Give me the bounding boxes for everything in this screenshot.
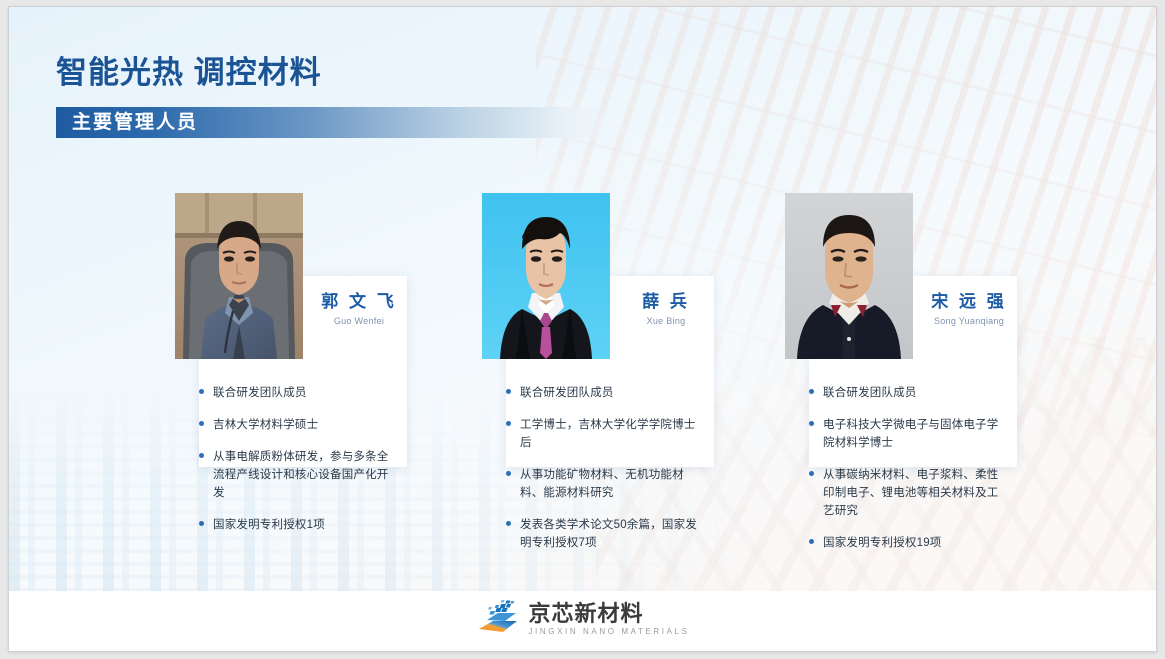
list-item: 国家发明专利授权19项 xyxy=(809,533,1005,551)
avatar xyxy=(482,193,610,359)
list-item-text: 从事电解质粉体研发，参与多条全流程产线设计和核心设备国产化开发 xyxy=(213,451,389,499)
person-bullet-list: 联合研发团队成员 工学博士，吉林大学化学学院博士后 从事功能矿物材料、无机功能材… xyxy=(506,383,702,551)
person-name-en: Guo Wenfei xyxy=(311,314,407,328)
slide-header: 智能光热 调控材料 xyxy=(56,53,322,93)
person-card-3: 宋 远 强 Song Yuanqiang 联合研发团队成员 电子科技大学微电子与… xyxy=(785,193,1017,551)
person-bullet-list: 联合研发团队成员 电子科技大学微电子与固体电子学院材料学博士 从事碳纳米材料、电… xyxy=(809,383,1005,551)
list-item-text: 联合研发团队成员 xyxy=(213,387,307,399)
bullet-dot-icon xyxy=(809,421,814,426)
person-card-2: 薛 兵 Xue Bing 联合研发团队成员 工学博士，吉林大学化学学院博士后 从… xyxy=(482,193,714,551)
list-item-text: 吉林大学材料学硕士 xyxy=(213,419,318,431)
avatar xyxy=(175,193,303,359)
person-name-cn: 郭 文 飞 xyxy=(311,291,407,313)
list-item-text: 联合研发团队成员 xyxy=(823,387,917,399)
list-item-text: 联合研发团队成员 xyxy=(520,387,614,399)
person-bullet-list: 联合研发团队成员 吉林大学材料学硕士 从事电解质粉体研发，参与多条全流程产线设计… xyxy=(199,383,395,533)
list-item-text: 从事功能矿物材料、无机功能材料、能源材料研究 xyxy=(520,469,684,499)
list-item-text: 从事碳纳米材料、电子浆料、柔性印制电子、锂电池等相关材料及工艺研究 xyxy=(823,469,999,517)
bullet-dot-icon xyxy=(199,389,204,394)
person-card-1: 郭 文 飞 Guo Wenfei 联合研发团队成员 吉林大学材料学硕士 从事电解… xyxy=(175,193,407,551)
list-item: 从事电解质粉体研发，参与多条全流程产线设计和核心设备国产化开发 xyxy=(199,447,395,501)
slide-canvas: 智能光热 调控材料 主要管理人员 xyxy=(8,6,1157,652)
bullet-dot-icon xyxy=(199,453,204,458)
bullet-dot-icon xyxy=(506,471,511,476)
person-name-cn: 薛 兵 xyxy=(618,291,714,313)
list-item-text: 国家发明专利授权1项 xyxy=(213,519,325,531)
avatar xyxy=(785,193,913,359)
list-item-text: 电子科技大学微电子与固体电子学院材料学博士 xyxy=(823,419,999,449)
list-item: 联合研发团队成员 xyxy=(809,383,1005,401)
bullet-dot-icon xyxy=(506,521,511,526)
bullet-dot-icon xyxy=(809,389,814,394)
bullet-dot-icon xyxy=(199,421,204,426)
logo-name-cn: 京芯新材料 xyxy=(528,601,689,626)
list-item-text: 国家发明专利授权19项 xyxy=(823,537,942,549)
list-item-text: 发表各类学术论文50余篇，国家发明专利授权7项 xyxy=(520,519,697,549)
list-item: 电子科技大学微电子与固体电子学院材料学博士 xyxy=(809,415,1005,451)
section-title-label: 主要管理人员 xyxy=(72,111,198,135)
page-title: 智能光热 调控材料 xyxy=(56,53,322,93)
list-item: 发表各类学术论文50余篇，国家发明专利授权7项 xyxy=(506,515,702,551)
section-title-bar: 主要管理人员 xyxy=(56,107,612,138)
logo-wordmark: 京芯新材料 JINGXIN NANO MATERIALS xyxy=(528,601,689,637)
bullet-dot-icon xyxy=(809,471,814,476)
list-item: 从事功能矿物材料、无机功能材料、能源材料研究 xyxy=(506,465,702,501)
list-item-text: 工学博士，吉林大学化学学院博士后 xyxy=(520,419,696,449)
list-item: 从事碳纳米材料、电子浆料、柔性印制电子、锂电池等相关材料及工艺研究 xyxy=(809,465,1005,519)
list-item: 工学博士，吉林大学化学学院博士后 xyxy=(506,415,702,451)
person-name-cn: 宋 远 强 xyxy=(921,291,1017,313)
portrait-guo-wenfei-icon xyxy=(175,193,303,359)
person-name-block: 薛 兵 Xue Bing xyxy=(618,291,714,328)
list-item: 联合研发团队成员 xyxy=(199,383,395,401)
person-name-block: 宋 远 强 Song Yuanqiang xyxy=(921,291,1017,328)
person-name-en: Xue Bing xyxy=(618,314,714,328)
portrait-xue-bing-icon xyxy=(482,193,610,359)
bullet-dot-icon xyxy=(506,421,511,426)
footer-band: 京芯新材料 JINGXIN NANO MATERIALS xyxy=(9,591,1156,651)
person-name-block: 郭 文 飞 Guo Wenfei xyxy=(311,291,407,328)
bullet-dot-icon xyxy=(199,521,204,526)
list-item: 联合研发团队成员 xyxy=(506,383,702,401)
logo-name-en: JINGXIN NANO MATERIALS xyxy=(528,626,689,637)
list-item: 国家发明专利授权1项 xyxy=(199,515,395,533)
person-name-en: Song Yuanqiang xyxy=(921,314,1017,328)
pixel-mosaic-logo-icon xyxy=(475,599,519,639)
bullet-dot-icon xyxy=(506,389,511,394)
company-logo: 京芯新材料 JINGXIN NANO MATERIALS xyxy=(475,599,689,639)
list-item: 吉林大学材料学硕士 xyxy=(199,415,395,433)
bullet-dot-icon xyxy=(809,539,814,544)
portrait-song-yuanqiang-icon xyxy=(785,193,913,359)
